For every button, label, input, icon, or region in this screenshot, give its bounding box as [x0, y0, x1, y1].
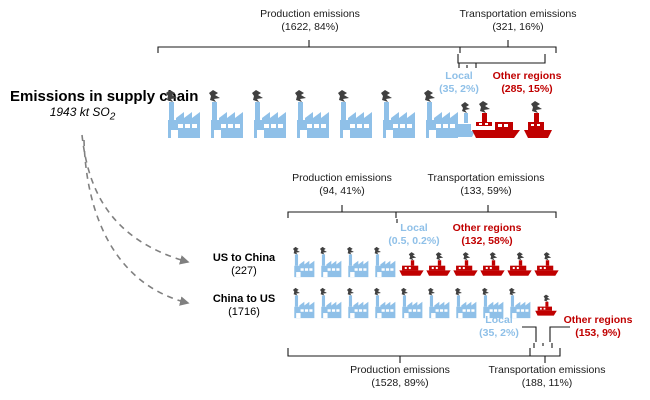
row3-bracket-group	[0, 0, 650, 400]
row3-other-connector	[550, 327, 570, 342]
row3-transportation-bracket	[530, 348, 560, 356]
infographic-canvas: Emissions in supply chain 1943 kt SO2 Pr…	[0, 0, 650, 400]
row3-production-bracket	[288, 348, 530, 356]
row3-transportation-label: Transportation emissions (188, 11%)	[468, 364, 626, 389]
row3-production-label: Production emissions (1528, 89%)	[310, 364, 490, 389]
row3-local-connector	[522, 327, 536, 342]
